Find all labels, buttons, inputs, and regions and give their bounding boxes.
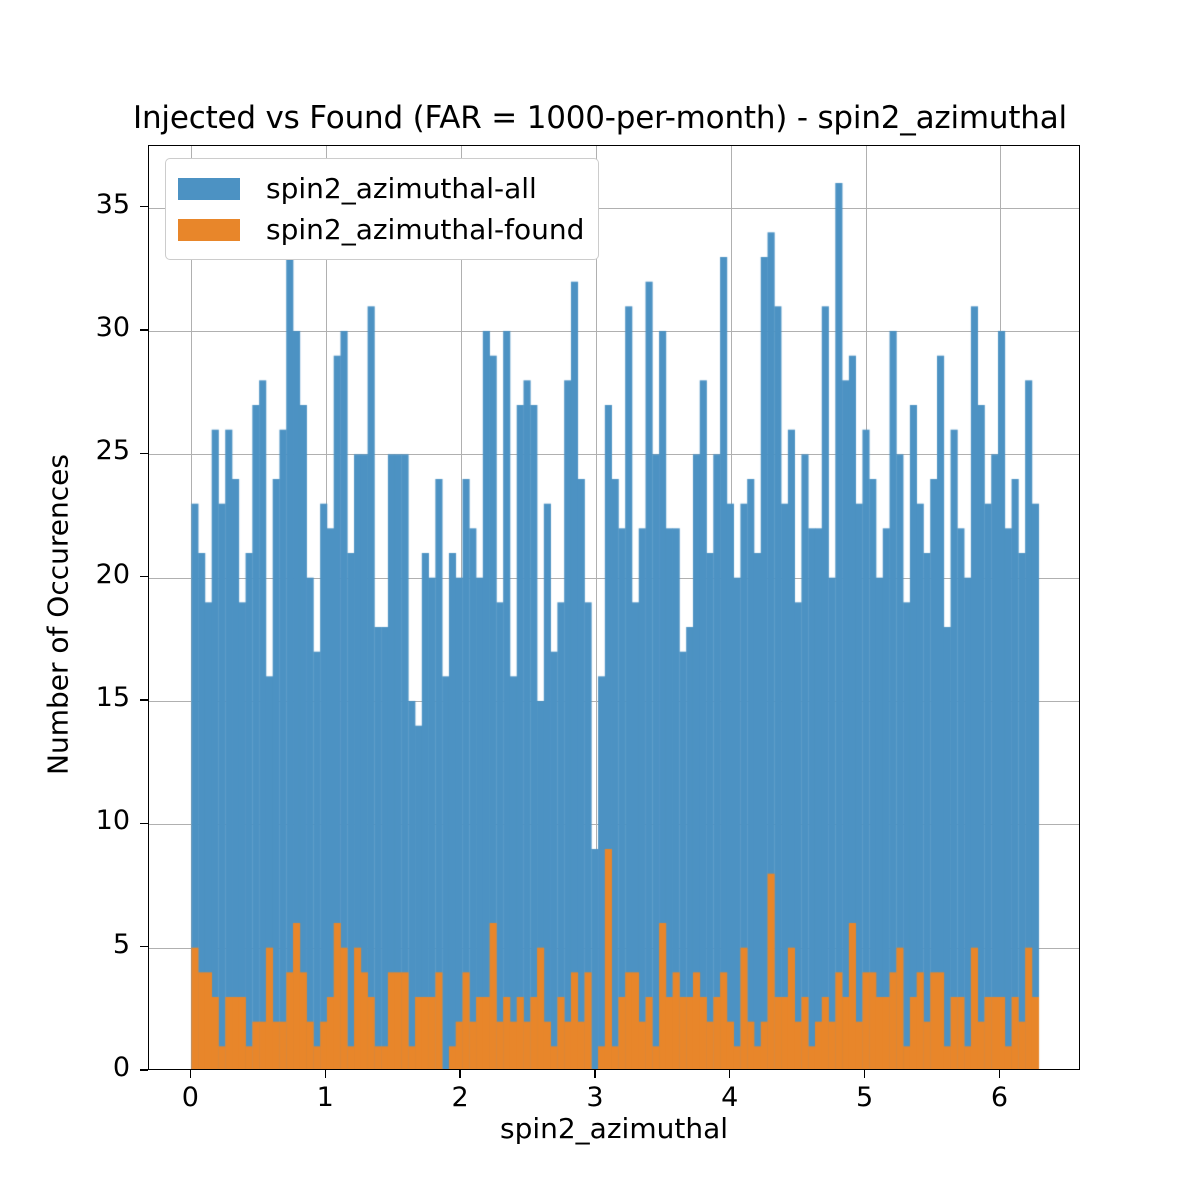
x-tick-label: 0 xyxy=(145,1082,235,1113)
y-tick-mark xyxy=(140,576,148,577)
legend-swatch-found xyxy=(178,219,240,241)
y-tick-label: 0 xyxy=(40,1052,130,1083)
x-tick-label: 6 xyxy=(954,1082,1044,1113)
x-tick-mark xyxy=(999,1070,1000,1078)
y-tick-mark xyxy=(140,329,148,330)
x-tick-label: 3 xyxy=(550,1082,640,1113)
legend-label-all: spin2_azimuthal-all xyxy=(266,172,537,205)
plot-area xyxy=(148,145,1080,1070)
x-axis-label: spin2_azimuthal xyxy=(148,1112,1080,1145)
legend-item-found: spin2_azimuthal-found xyxy=(178,209,584,250)
x-tick-mark xyxy=(864,1070,865,1078)
y-axis-label: Number of Occurences xyxy=(42,365,75,865)
y-tick-label: 35 xyxy=(40,189,130,220)
y-tick-label: 5 xyxy=(40,929,130,960)
x-tick-label: 5 xyxy=(820,1082,910,1113)
x-tick-label: 4 xyxy=(685,1082,775,1113)
y-tick-mark xyxy=(140,823,148,824)
x-tick-label: 2 xyxy=(415,1082,505,1113)
y-tick-mark xyxy=(140,206,148,207)
y-tick-mark xyxy=(140,453,148,454)
x-tick-label: 1 xyxy=(280,1082,370,1113)
legend-swatch-all xyxy=(178,178,240,200)
y-tick-mark xyxy=(140,1069,148,1070)
x-tick-mark xyxy=(459,1070,460,1078)
y-tick-label: 30 xyxy=(40,312,130,343)
legend-item-all: spin2_azimuthal-all xyxy=(178,168,584,209)
legend: spin2_azimuthal-all spin2_azimuthal-foun… xyxy=(165,158,599,260)
x-tick-mark xyxy=(594,1070,595,1078)
histogram-bars xyxy=(149,146,1080,1070)
x-tick-mark xyxy=(190,1070,191,1078)
legend-label-found: spin2_azimuthal-found xyxy=(266,213,584,246)
x-tick-mark xyxy=(325,1070,326,1078)
y-tick-mark xyxy=(140,699,148,700)
chart-title: Injected vs Found (FAR = 1000-per-month)… xyxy=(0,100,1200,136)
chart-figure: Injected vs Found (FAR = 1000-per-month)… xyxy=(0,0,1200,1200)
x-tick-mark xyxy=(729,1070,730,1078)
y-tick-mark xyxy=(140,946,148,947)
